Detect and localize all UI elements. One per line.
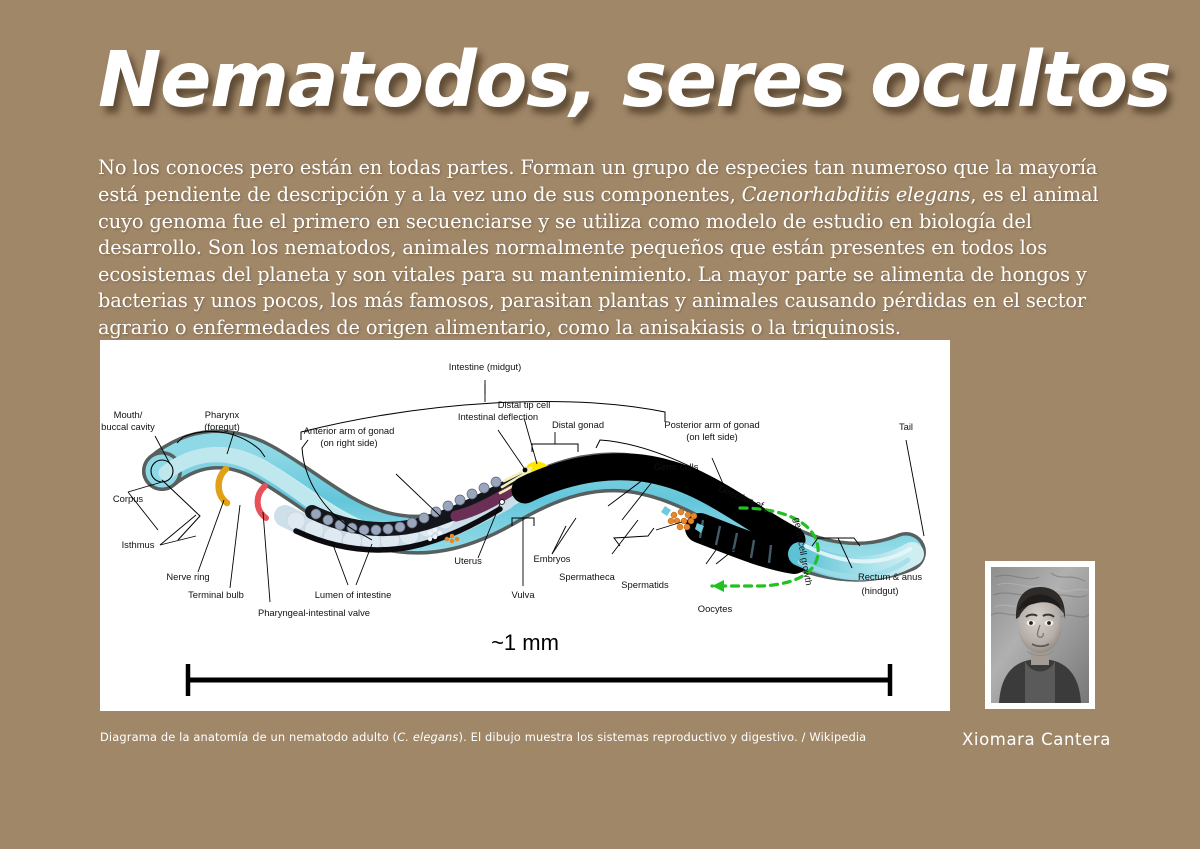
figure-caption: Diagrama de la anatomía de un nematodo a… [100, 730, 900, 745]
label-pharynx-1: Pharynx [205, 409, 240, 420]
author-portrait-frame [985, 561, 1095, 709]
portrait-pupil-left [1029, 621, 1033, 625]
label-spermatheca: Spermatheca [559, 571, 616, 582]
label-uterus: Uterus [454, 555, 482, 566]
portrait-pupil-right [1047, 621, 1051, 625]
caption-species-name: C. elegans [397, 730, 458, 744]
label-mouth-buccal-1: Mouth/ [114, 409, 143, 420]
dot-uterus [500, 500, 505, 505]
label-tail: Tail [899, 421, 913, 432]
leader-terminal-bulb [230, 505, 240, 588]
page-title: Nematodos, seres ocultos [98, 42, 1093, 119]
label-intestine-midgut: Intestine (midgut) [449, 361, 521, 372]
portrait-content [991, 567, 1089, 703]
label-distal-gonad: Distal gonad [552, 419, 604, 430]
leader-pi-valve [263, 512, 270, 602]
figure-panel: Intestine (midgut) Mouth/ buccal cavity … [100, 340, 950, 711]
leader-tail [906, 440, 924, 536]
label-lumen-of-intestine: Lumen of intestine [315, 589, 392, 600]
label-distal-tip-cell: Distal tip cell [498, 399, 551, 410]
nematode-anatomy-diagram: Intestine (midgut) Mouth/ buccal cavity … [100, 340, 950, 711]
label-corpus: Corpus [113, 493, 144, 504]
growth-arrow-head [712, 580, 724, 592]
label-embryos: Embryos [534, 553, 571, 564]
author-byline: Xiomara Cantera [962, 730, 1162, 749]
label-posterior-arm-2: (on left side) [686, 431, 738, 442]
label-pharynx-2: (foregut) [204, 421, 239, 432]
label-vulva: Vulva [511, 589, 535, 600]
leader-nerve-ring [198, 500, 224, 572]
lede-species-name: Caenorhabditis elegans [742, 183, 971, 206]
label-rectum-anus-2: (hindgut) [861, 585, 898, 596]
label-oocytes: Oocytes [698, 603, 733, 614]
label-anterior-arm-1: Anterior arm of gonad [304, 425, 395, 436]
scale-bar-group: ~1 mm [188, 630, 890, 696]
scale-bar-label: ~1 mm [491, 630, 559, 655]
author-portrait-photo [991, 567, 1089, 703]
label-mouth-buccal-2: buccal cavity [101, 421, 155, 432]
leader-distal-tip-cell [524, 418, 537, 464]
label-anterior-arm-2: (on right side) [320, 437, 377, 448]
label-nerve-ring: Nerve ring [166, 571, 209, 582]
label-terminal-bulb: Terminal bulb [188, 589, 244, 600]
caption-text-1: Diagrama de la anatomía de un nematodo a… [100, 730, 397, 744]
label-isthmus: Isthmus [122, 539, 155, 550]
leader-embryos-a [552, 518, 576, 554]
dot-intestinal-deflection [523, 468, 528, 473]
pharyngeal-intestinal-valve-arc [258, 486, 266, 518]
lede-text-2: , es el animal cuyo genoma fue el primer… [98, 183, 1098, 339]
leader-intestinal-deflection [498, 430, 524, 468]
label-intestinal-deflection: Intestinal deflection [458, 411, 538, 422]
label-spermatids: Spermatids [621, 579, 669, 590]
label-pharyngeal-intestinal-valve: Pharyngeal-intestinal valve [258, 607, 370, 618]
bracket-distal-gonad [532, 444, 578, 452]
leader-anterior-arm [396, 474, 440, 516]
leader-embryos-b [552, 526, 566, 554]
posterior-gonad-arm [525, 467, 794, 563]
lede-paragraph: No los conoces pero están en todas parte… [98, 155, 1106, 341]
label-posterior-arm-1: Posterior arm of gonad [664, 419, 759, 430]
nerve-ring-arc [219, 469, 227, 503]
label-rectum-anus-1: Rectum & anus [858, 571, 922, 582]
caption-text-2: ). El dibujo muestra los sistemas reprod… [458, 730, 866, 744]
label-germ-cells: Germ cells [654, 461, 699, 472]
